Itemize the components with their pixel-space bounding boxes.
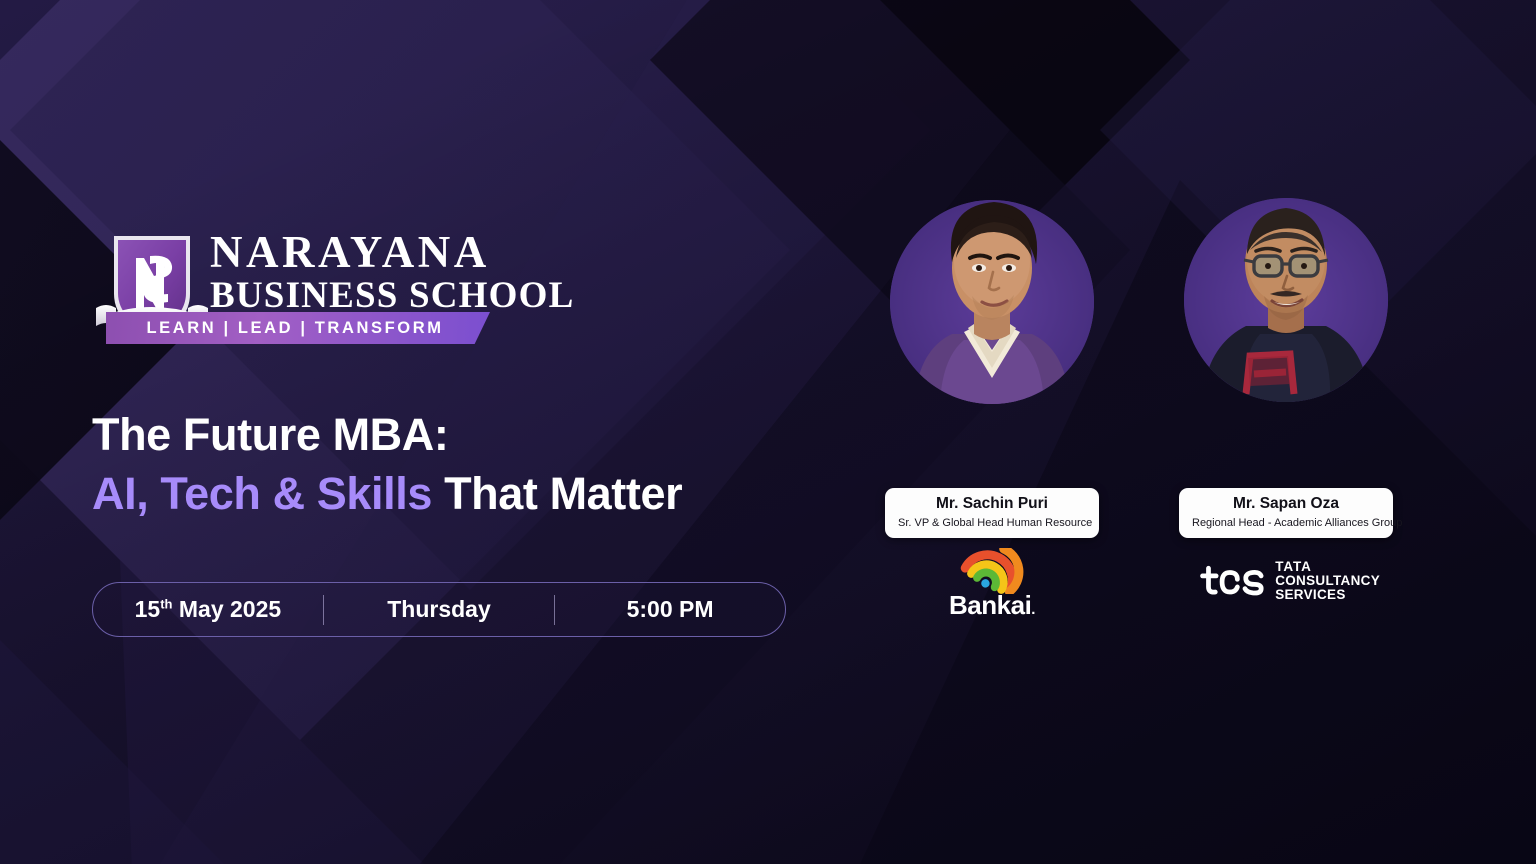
speaker-photo-sachin-puri [890, 200, 1094, 404]
speaker-name-tag-2: Mr. Sapan Oza Regional Head - Academic A… [1179, 488, 1393, 538]
bankai-wordmark-text: Bankai [949, 590, 1031, 620]
event-date: 15th May 2025 [93, 596, 323, 623]
speaker-photo-sapan-oza [1184, 198, 1388, 402]
speaker-name-tag-1: Mr. Sachin Puri Sr. VP & Global Head Hum… [885, 488, 1099, 538]
title-accent-text: AI, Tech & Skills [92, 468, 432, 519]
speaker-2-name: Mr. Sapan Oza [1192, 495, 1380, 514]
title-line-1: The Future MBA: [92, 405, 852, 464]
tcs-logo: TATA CONSULTANCY SERVICES [1200, 555, 1380, 607]
bankai-wordmark: Bankai. [932, 590, 1052, 621]
event-datetime-bar: 15th May 2025 Thursday 5:00 PM [92, 582, 786, 637]
speaker-card-2 [1168, 198, 1404, 402]
event-date-day: 15 [135, 596, 161, 622]
tcs-wordmark-icon [1200, 560, 1266, 602]
event-date-suffix: th [160, 596, 172, 611]
tcs-name-lines: TATA CONSULTANCY SERVICES [1275, 560, 1380, 603]
tcs-line-services: SERVICES [1275, 588, 1380, 602]
tcs-line-tata: TATA [1275, 560, 1380, 574]
event-title: The Future MBA: AI, Tech & Skills That M… [92, 405, 852, 524]
speaker-1-role: Sr. VP & Global Head Human Resource [898, 516, 1086, 530]
title-line-2: AI, Tech & Skills That Matter [92, 464, 852, 523]
title-rest-text: That Matter [432, 468, 682, 519]
speaker-1-hair-overflow [890, 144, 1094, 414]
event-time: 5:00 PM [555, 596, 785, 623]
logo-tagline-banner: LEARN | LEAD | TRANSFORM [106, 312, 490, 344]
logo-wordmark: NARAYANA BUSINESS SCHOOL [210, 230, 510, 318]
speaker-2-role: Regional Head - Academic Alliances Group [1192, 516, 1380, 530]
event-date-month-year: May 2025 [172, 596, 281, 622]
speaker-card-1 [874, 200, 1110, 404]
logo-line-business-school: BUSINESS SCHOOL [210, 275, 510, 318]
event-banner: ज्ञानं परमं ध्येयम् NARAYANA BUSINESS SC… [0, 0, 1536, 864]
logo-tagline-text: LEARN | LEAD | TRANSFORM [146, 319, 449, 338]
speaker-2-hair-overflow [1184, 142, 1388, 412]
bankai-logo: Bankai. [932, 548, 1052, 620]
bankai-trademark-dot: . [1031, 601, 1035, 618]
speaker-1-name: Mr. Sachin Puri [898, 495, 1086, 514]
event-weekday: Thursday [324, 596, 554, 623]
bankai-arcs-icon [932, 548, 1052, 594]
tcs-line-consultancy: CONSULTANCY [1275, 574, 1380, 588]
logo-line-narayana: NARAYANA [210, 230, 510, 275]
